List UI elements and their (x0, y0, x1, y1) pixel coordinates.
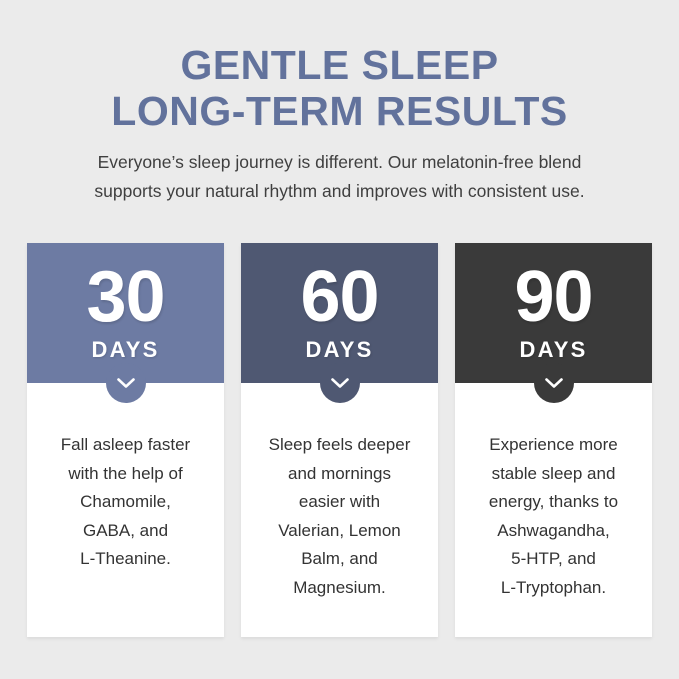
card-unit-label: DAYS (520, 338, 588, 362)
headline-line-1: GENTLE SLEEP (0, 42, 679, 88)
card-description-line: Experience more (471, 431, 636, 460)
chevron-down-icon (106, 363, 146, 403)
card-description-line: Chamomile, (43, 488, 208, 517)
timeline-card-90-days: 90 DAYS Experience more stable sleep and… (455, 243, 652, 637)
card-header: 90 DAYS (455, 243, 652, 383)
card-body: Experience more stable sleep and energy,… (455, 383, 652, 637)
card-description-line: L-Theanine. (43, 545, 208, 574)
card-number: 30 (86, 264, 164, 330)
card-description-line: Magnesium. (257, 574, 422, 603)
timeline-card-list: 30 DAYS Fall asleep faster with the help… (27, 243, 652, 637)
card-description-line: GABA, and (43, 517, 208, 546)
card-description-line: 5-HTP, and (471, 545, 636, 574)
card-number: 60 (300, 264, 378, 330)
card-description-line: Ashwagandha, (471, 517, 636, 546)
infographic-page: GENTLE SLEEP LONG-TERM RESULTS Everyone’… (0, 0, 679, 679)
card-description-line: and mornings (257, 460, 422, 489)
subtitle-line-1: Everyone’s sleep journey is different. O… (42, 148, 637, 177)
chevron-down-icon (534, 363, 574, 403)
card-header: 60 DAYS (241, 243, 438, 383)
card-body: Sleep feels deeper and mornings easier w… (241, 383, 438, 637)
chevron-down-icon (320, 363, 360, 403)
timeline-card-60-days: 60 DAYS Sleep feels deeper and mornings … (241, 243, 438, 637)
card-description-line: Balm, and (257, 545, 422, 574)
card-description-line: with the help of (43, 460, 208, 489)
card-body: Fall asleep faster with the help of Cham… (27, 383, 224, 637)
headline-line-2: LONG-TERM RESULTS (0, 88, 679, 134)
card-description-line: Sleep feels deeper (257, 431, 422, 460)
page-subtitle: Everyone’s sleep journey is different. O… (0, 148, 679, 206)
timeline-card-30-days: 30 DAYS Fall asleep faster with the help… (27, 243, 224, 637)
card-unit-label: DAYS (306, 338, 374, 362)
card-description-line: L-Tryptophan. (471, 574, 636, 603)
card-description-line: easier with (257, 488, 422, 517)
card-description-line: stable sleep and (471, 460, 636, 489)
card-description-line: Valerian, Lemon (257, 517, 422, 546)
subtitle-line-2: supports your natural rhythm and improve… (42, 177, 637, 206)
card-header: 30 DAYS (27, 243, 224, 383)
card-description-line: Fall asleep faster (43, 431, 208, 460)
card-unit-label: DAYS (92, 338, 160, 362)
page-title: GENTLE SLEEP LONG-TERM RESULTS (0, 0, 679, 134)
card-number: 90 (514, 264, 592, 330)
card-description-line: energy, thanks to (471, 488, 636, 517)
